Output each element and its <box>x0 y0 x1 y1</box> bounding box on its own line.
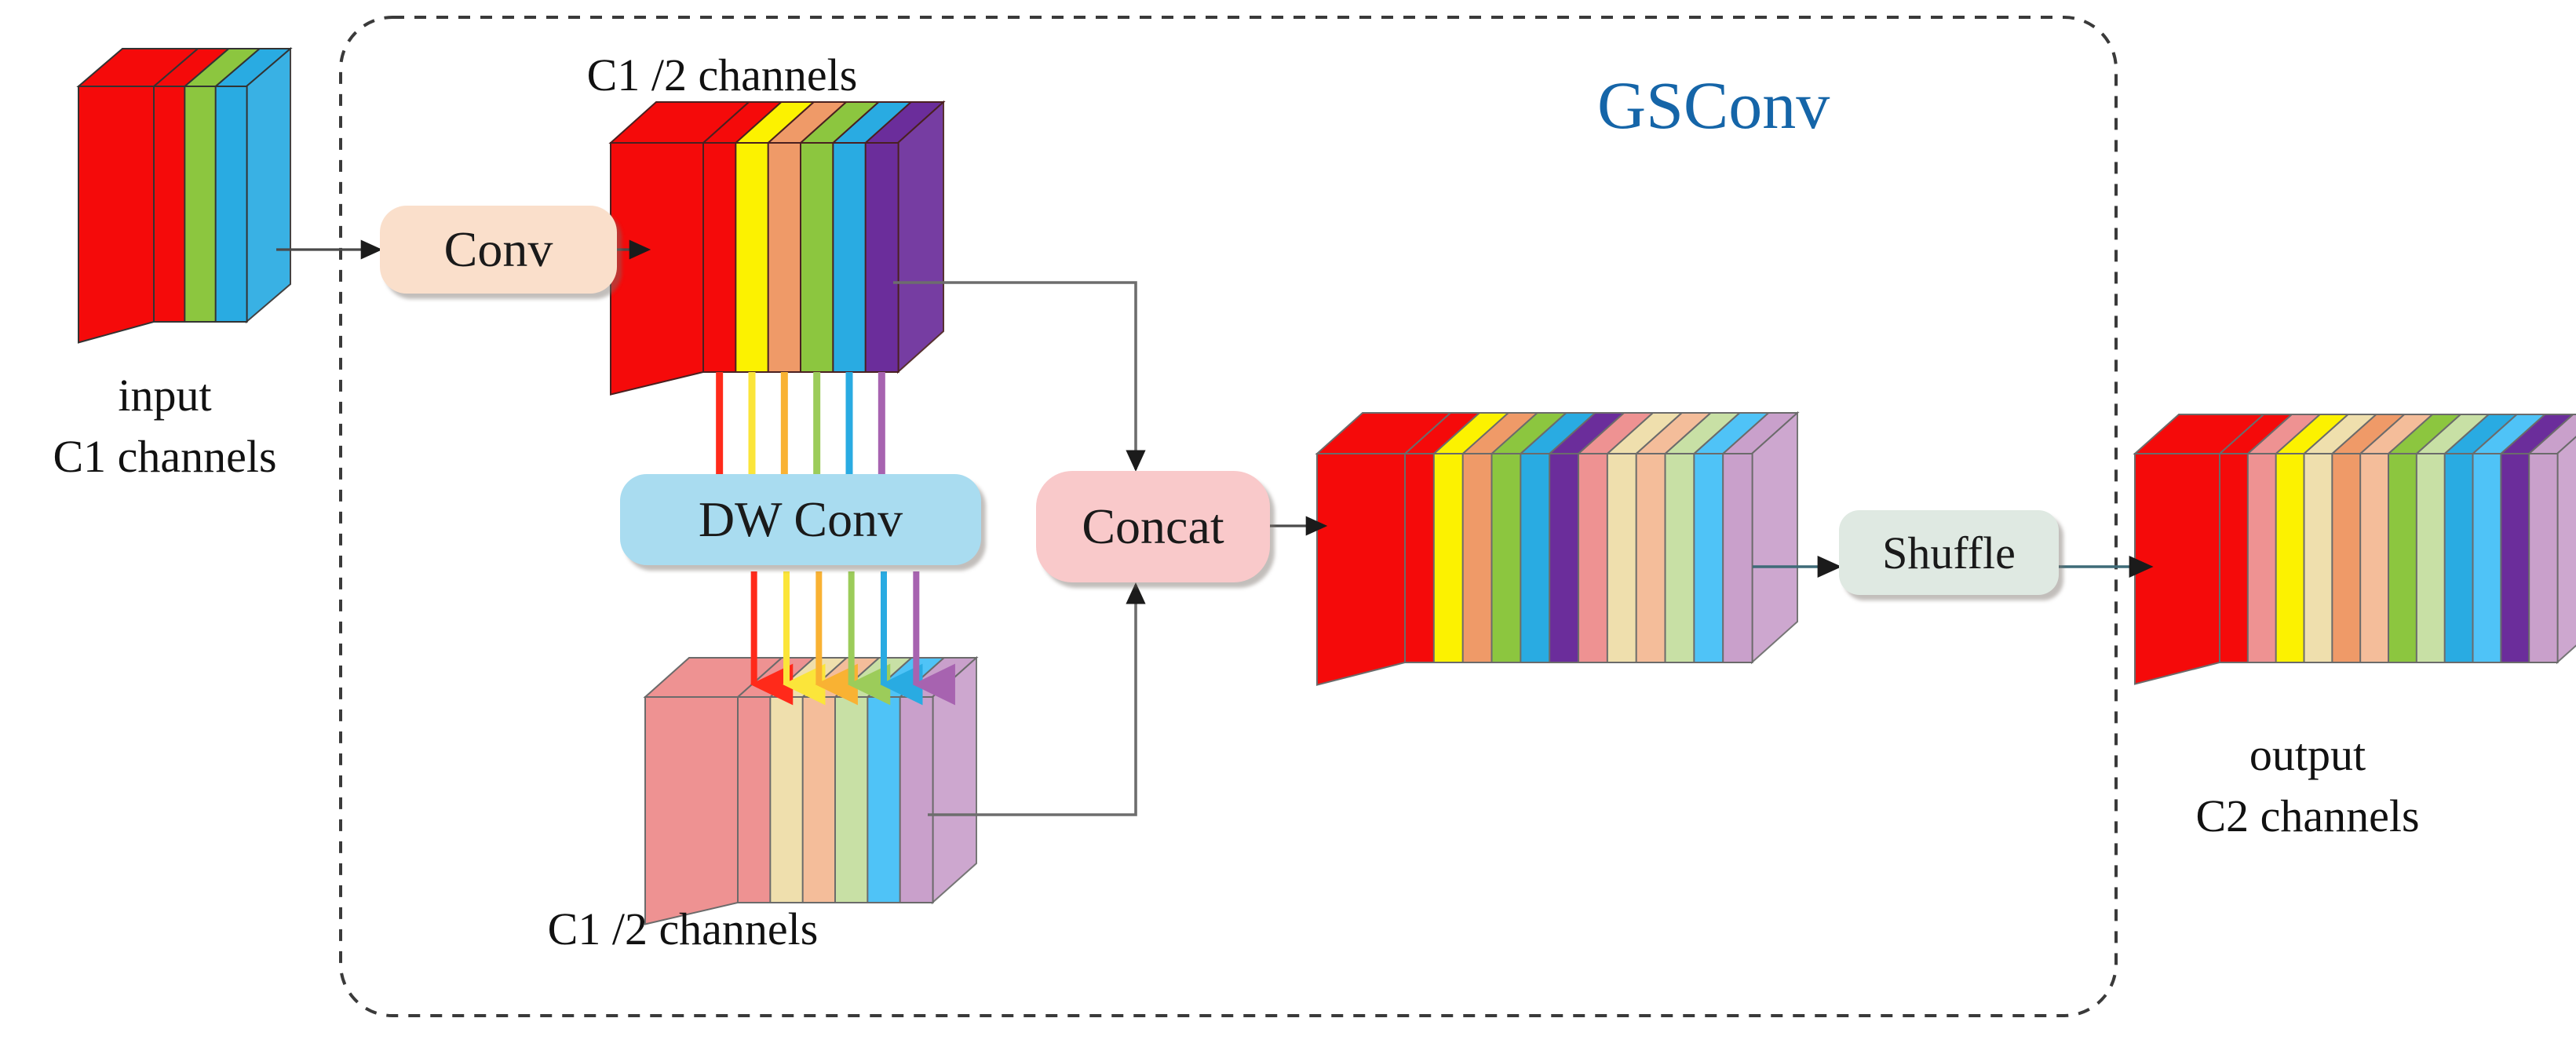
block-output <box>2135 414 2576 684</box>
diagram-canvas: Conv DW Conv Concat Shuffle GSConv input… <box>0 0 2576 1040</box>
block-top-half <box>611 102 943 395</box>
shuffle-box[interactable]: Shuffle <box>1839 510 2059 595</box>
bottom-block-caption: C1 /2 channels <box>369 903 997 956</box>
block-input <box>78 49 290 342</box>
dwconv-box[interactable]: DW Conv <box>620 474 981 565</box>
shuffle-label: Shuffle <box>1882 527 2016 579</box>
diagram-vector-layer <box>0 0 2576 1040</box>
input-caption-line1: input <box>47 369 283 422</box>
conv-label: Conv <box>444 221 553 279</box>
concat-label: Concat <box>1082 498 1224 556</box>
output-caption-line1: output <box>2151 728 2465 782</box>
dwconv-label: DW Conv <box>699 491 903 549</box>
channel-lines-to-dwconv <box>720 372 882 474</box>
concat-box[interactable]: Concat <box>1036 471 1270 582</box>
input-caption-line2: C1 channels <box>8 430 322 484</box>
gsconv-title: GSConv <box>1597 66 1830 144</box>
conv-box[interactable]: Conv <box>380 206 617 294</box>
output-caption-line2: C2 channels <box>2119 790 2496 843</box>
block-concat <box>1317 413 1797 685</box>
block-bottom-half <box>645 658 976 925</box>
top-block-caption: C1 /2 channels <box>487 49 958 102</box>
